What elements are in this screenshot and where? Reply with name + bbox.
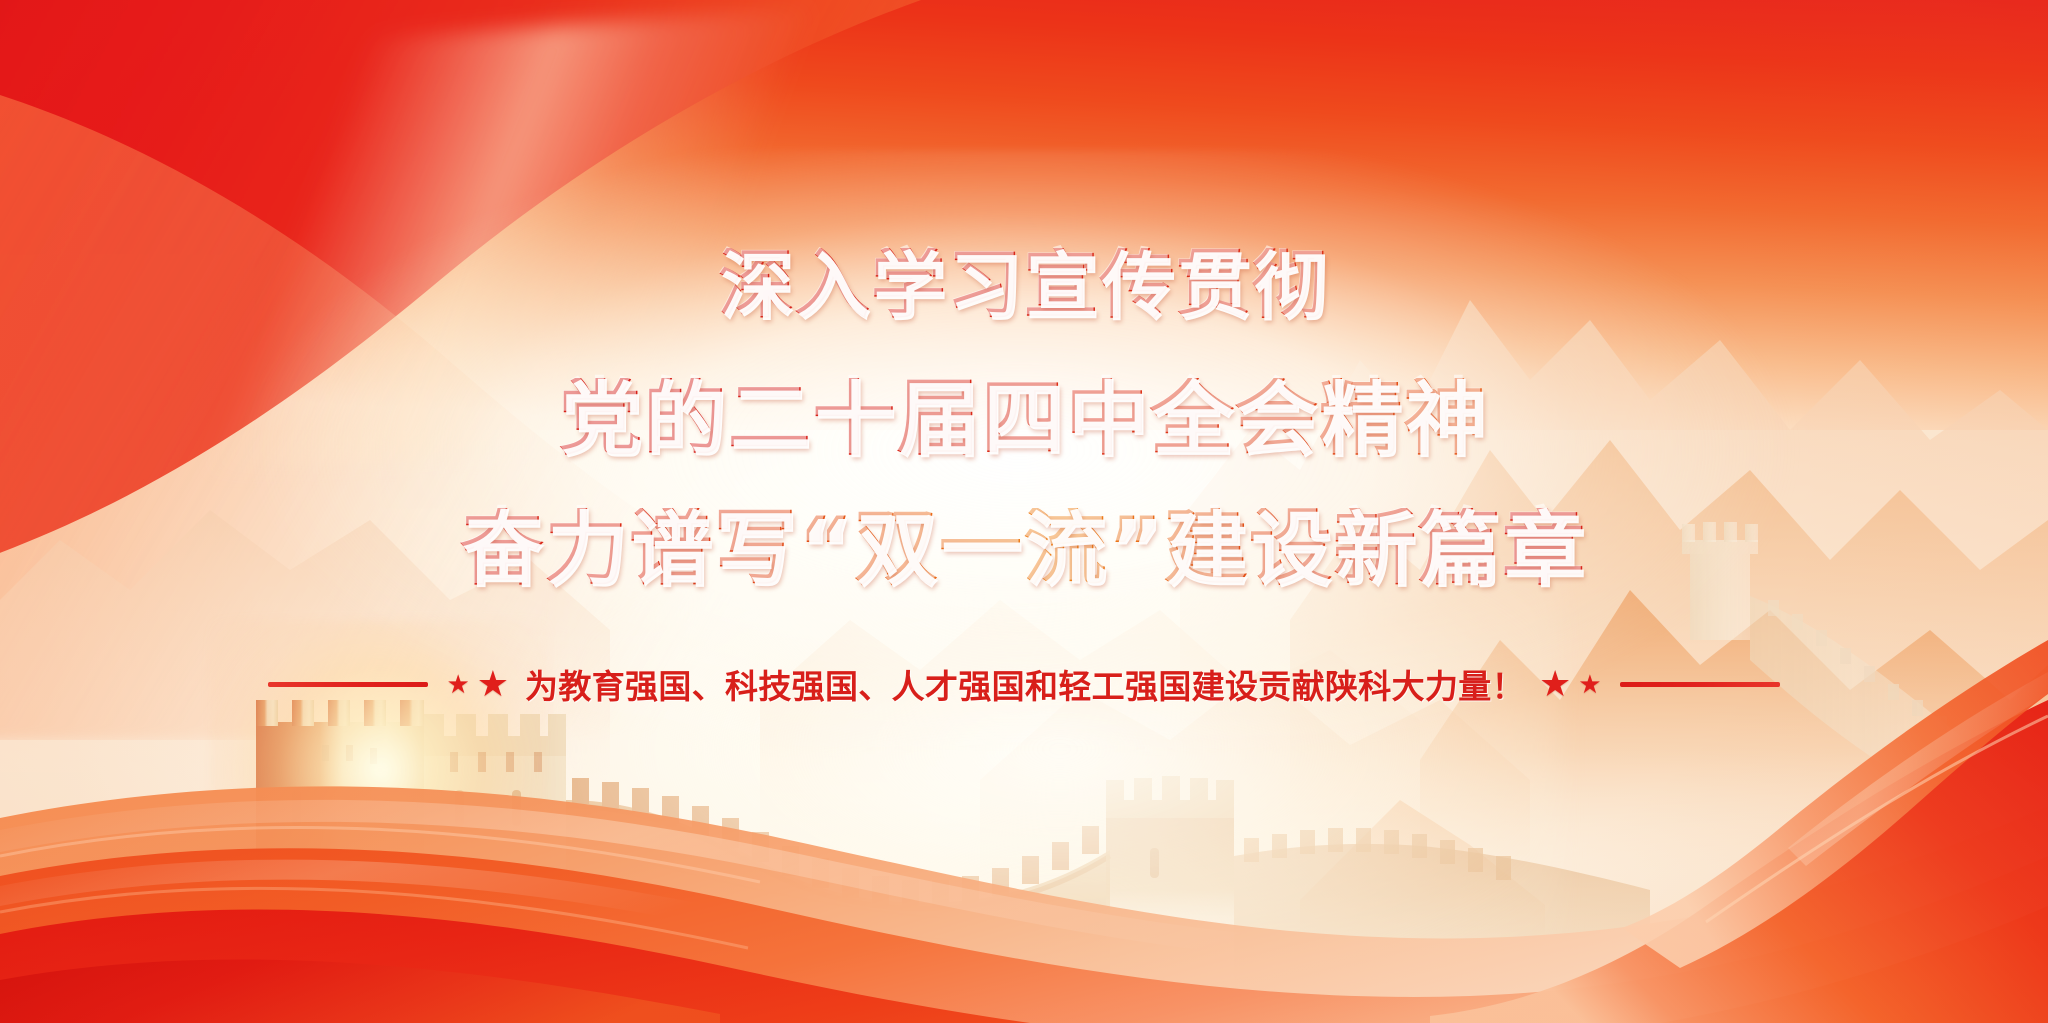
propaganda-banner: 深入学习宣传贯彻 党的二十届四中全会精神 奋力谱写“双一流”建设新篇章 ★ ★ … bbox=[0, 0, 2048, 1023]
rule-left bbox=[268, 682, 428, 687]
title-line-1: 深入学习宣传贯彻 bbox=[0, 248, 2048, 322]
subtitle-row: ★ ★ 为教育强国、科技强国、人才强国和轻工强国建设贡献陕科大力量！ ★ ★ bbox=[0, 660, 2048, 708]
stars-right: ★ ★ bbox=[1539, 666, 1602, 702]
star-icon: ★ bbox=[1539, 666, 1571, 702]
title-line-2: 党的二十届四中全会精神 bbox=[0, 378, 2048, 460]
title-line-3: 奋力谱写“双一流”建设新篇章 bbox=[0, 508, 2048, 590]
rule-right bbox=[1620, 682, 1780, 687]
stars-left: ★ ★ bbox=[446, 666, 509, 702]
star-icon: ★ bbox=[446, 671, 469, 697]
star-icon: ★ bbox=[1578, 671, 1601, 697]
subtitle-text: 为教育强国、科技强国、人才强国和轻工强国建设贡献陕科大力量！ bbox=[525, 660, 1525, 708]
star-icon: ★ bbox=[477, 666, 509, 702]
